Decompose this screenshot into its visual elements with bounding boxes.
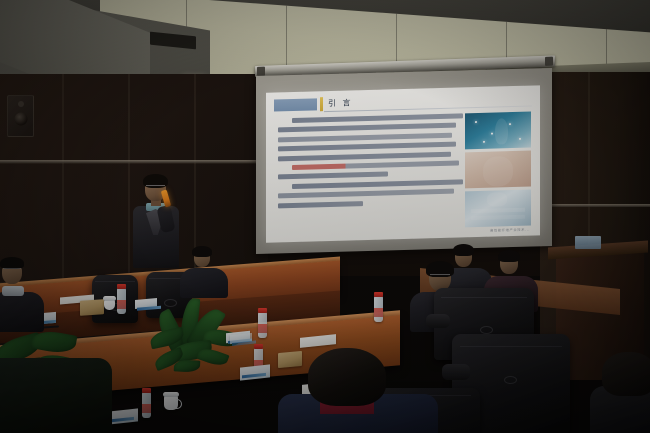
header-accent-bar (320, 97, 323, 111)
glasses-icon (3, 268, 21, 272)
wall-speaker-icon (7, 95, 34, 137)
slide-body-line (278, 123, 456, 133)
glasses-icon (146, 185, 165, 190)
header-accent-block (274, 98, 317, 111)
foreground-attendee (596, 352, 650, 433)
slide-body-line (292, 113, 463, 123)
potted-plant (148, 296, 268, 406)
slide-body-line (278, 142, 456, 152)
presentation-slide: 引 言 (266, 85, 540, 242)
glasses-icon (430, 274, 450, 278)
slide-body-line (278, 172, 388, 180)
water-bottle (258, 312, 267, 338)
slide-title: 引 言 (328, 97, 353, 110)
tissue-box (80, 299, 104, 316)
slide-image-blue-fiber (465, 112, 531, 150)
water-bottle (142, 392, 151, 418)
slide-body-line (278, 201, 363, 208)
slide-body-line (278, 151, 451, 161)
conference-room-photo: 引 言 (0, 0, 650, 433)
slide-body-text (278, 114, 456, 213)
slide-header: 引 言 (274, 92, 532, 114)
foreground-attendee (296, 348, 416, 433)
foreground-attendee (0, 318, 92, 433)
podium-monitor (575, 236, 601, 249)
slide-body-line (278, 132, 452, 142)
name-card (108, 408, 138, 424)
speaker-tweeter (18, 101, 24, 107)
tea-cup (104, 300, 115, 310)
slide-body-line (292, 160, 459, 170)
speaker-woofer (14, 112, 27, 125)
slide-body-line (278, 189, 454, 199)
slide-footer: 高性能纤维产业技术... (490, 227, 530, 233)
slide-image-column (465, 112, 531, 231)
slide-image-machinery (465, 190, 531, 228)
header-rule (324, 106, 532, 113)
tea-cup (164, 396, 178, 410)
projection-screen: 引 言 (256, 68, 552, 254)
water-bottle (374, 296, 383, 322)
presenter (127, 176, 185, 268)
water-bottle (117, 288, 126, 314)
seated-attendee (186, 246, 220, 292)
slide-image-skin-torso (465, 151, 531, 189)
name-card (230, 333, 252, 344)
slide-body-line (292, 179, 463, 189)
